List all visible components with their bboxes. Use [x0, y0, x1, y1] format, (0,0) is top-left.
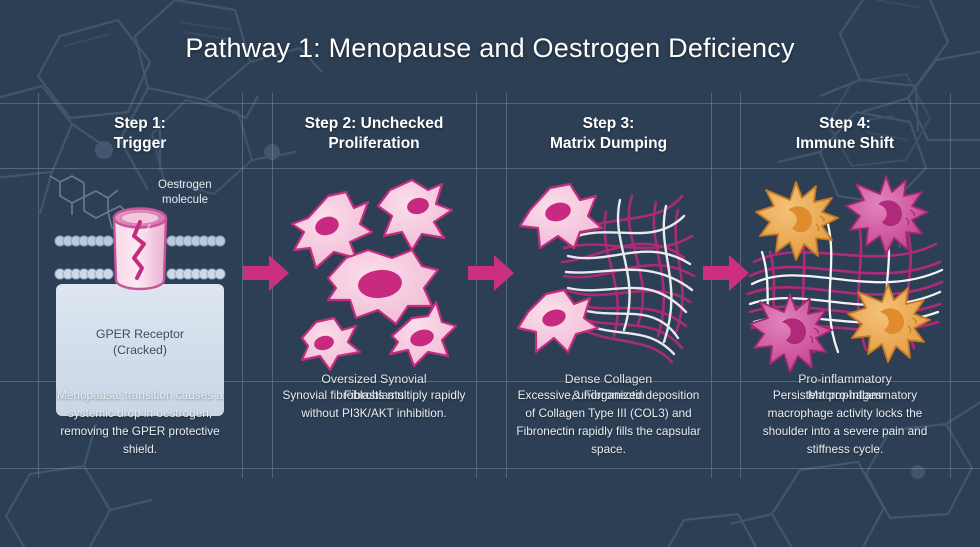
- arrow-step3-to-step4: [703, 255, 749, 291]
- grid-line-horizontal-bottom: [0, 468, 980, 469]
- oestrogen-molecule-label: Oestrogen molecule: [158, 179, 212, 206]
- svg-text:(Cracked): (Cracked): [113, 343, 167, 357]
- step-2-heading-line1: Step 2: Unchecked: [305, 114, 444, 134]
- svg-text:Oestrogen: Oestrogen: [158, 179, 212, 191]
- step-1-description: Menopausal transition causes a systemic …: [38, 386, 242, 458]
- macrophage-orange-bottom: [848, 284, 930, 362]
- step-2-description: Synovial fibroblasts multiply rapidly wi…: [272, 386, 476, 422]
- step-3-heading: Step 3: Matrix Dumping: [506, 104, 711, 164]
- step-3-heading-line1: Step 3:: [550, 114, 667, 134]
- grid-line-vertical-8: [950, 93, 951, 478]
- macrophage-cells: [750, 176, 930, 372]
- step-2-heading-line2: Proliferation: [305, 134, 444, 154]
- step-2-heading: Step 2: Unchecked Proliferation: [272, 104, 476, 164]
- step-4-heading: Step 4: Immune Shift: [740, 104, 950, 164]
- step-3-description: Excessive, unorganized deposition of Col…: [506, 386, 711, 458]
- macrophage-magenta-bottom: [750, 294, 832, 372]
- step-4-description: Persistent pro-inflammatory macrophage a…: [740, 386, 950, 458]
- step-4-heading-line1: Step 4:: [796, 114, 894, 134]
- step-column-1: Step 1: Trigger: [38, 104, 242, 464]
- step-1-heading-line1: Step 1:: [114, 114, 167, 134]
- step-column-2: Step 2: Unchecked Proliferation: [272, 104, 476, 464]
- svg-text:GPER Receptor: GPER Receptor: [96, 327, 184, 341]
- gper-receptor-barrel: [114, 209, 166, 290]
- step-1-heading-line2: Trigger: [114, 134, 167, 154]
- page-title: Pathway 1: Menopause and Oestrogen Defic…: [0, 33, 980, 64]
- svg-text:molecule: molecule: [162, 194, 208, 206]
- infographic-canvas: Pathway 1: Menopause and Oestrogen Defic…: [0, 0, 980, 547]
- step-3-heading-line2: Matrix Dumping: [550, 134, 667, 154]
- step-4-heading-line2: Immune Shift: [796, 134, 894, 154]
- macrophage-orange-top: [756, 182, 838, 260]
- step-1-heading: Step 1: Trigger: [38, 104, 242, 164]
- arrow-step1-to-step2: [243, 255, 289, 291]
- step-column-3: Step 3: Matrix Dumping: [506, 104, 711, 464]
- macrophage-magenta-top: [846, 176, 928, 254]
- step-column-4: Step 4: Immune Shift: [740, 104, 950, 464]
- arrow-step2-to-step3: [468, 255, 514, 291]
